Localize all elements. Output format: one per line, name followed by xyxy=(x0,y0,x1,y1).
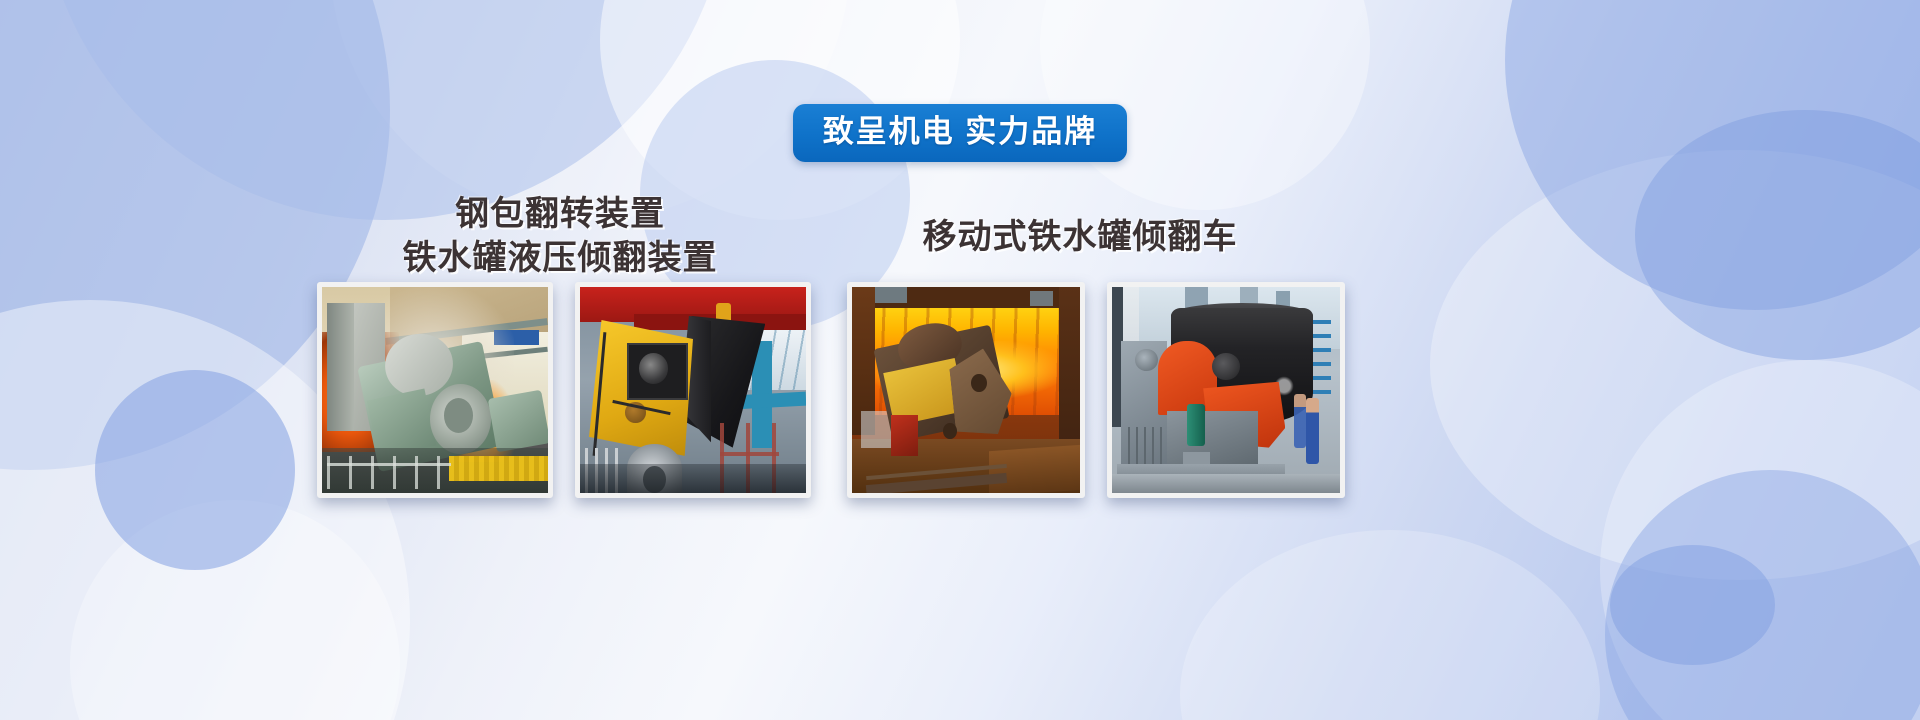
decor-circle xyxy=(1600,360,1920,720)
heading-right: 移动式铁水罐倾翻车 xyxy=(845,215,1315,259)
decor-circle xyxy=(1430,150,1920,580)
photo-2-scene xyxy=(580,287,806,493)
decor-circle xyxy=(1610,545,1775,665)
photo-strip xyxy=(317,282,1345,498)
photo-3-scene xyxy=(852,287,1080,493)
heading-right-line-1: 移动式铁水罐倾翻车 xyxy=(845,215,1315,259)
decor-circle xyxy=(1605,470,1920,720)
photo-thumbnail[interactable] xyxy=(575,282,811,498)
photo-group-ladle-tilting xyxy=(317,282,811,498)
photo-thumbnail[interactable] xyxy=(847,282,1085,498)
photo-4-scene xyxy=(1112,287,1340,493)
photo-1-scene xyxy=(322,287,548,493)
decor-circle xyxy=(1180,530,1600,720)
slogan-text: 致呈机电 实力品牌 xyxy=(823,112,1098,152)
slogan-badge: 致呈机电 实力品牌 xyxy=(793,104,1128,162)
slogan-badge-wrap: 致呈机电 实力品牌 xyxy=(0,104,1920,162)
heading-left: 钢包翻转装置 铁水罐液压倾翻装置 xyxy=(380,192,740,280)
photo-thumbnail[interactable] xyxy=(1107,282,1345,498)
heading-left-line-1: 钢包翻转装置 xyxy=(380,192,740,236)
decor-circle xyxy=(70,500,400,720)
decor-circle xyxy=(95,370,295,570)
heading-left-line-2: 铁水罐液压倾翻装置 xyxy=(380,236,740,280)
promo-banner: 致呈机电 实力品牌 钢包翻转装置 铁水罐液压倾翻装置 移动式铁水罐倾翻车 xyxy=(0,0,1920,720)
photo-group-mobile-tilting-car xyxy=(847,282,1345,498)
photo-thumbnail[interactable] xyxy=(317,282,553,498)
